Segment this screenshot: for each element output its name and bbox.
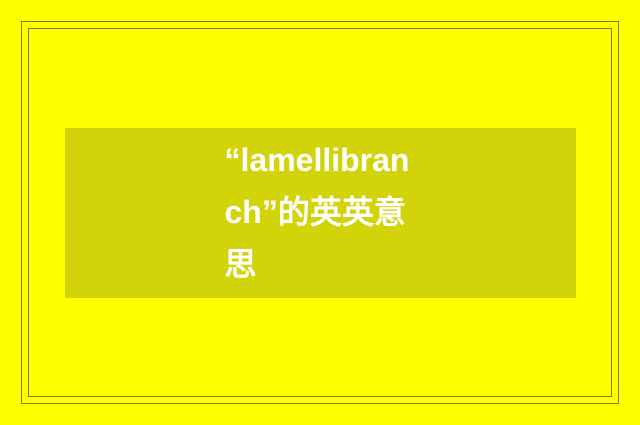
page-canvas: “lamellibranch”的英英意思	[0, 0, 640, 425]
headline-container: “lamellibranch”的英英意思	[225, 135, 421, 290]
headline-band: “lamellibranch”的英英意思	[65, 128, 576, 298]
page-title: “lamellibranch”的英英意思	[225, 135, 421, 290]
